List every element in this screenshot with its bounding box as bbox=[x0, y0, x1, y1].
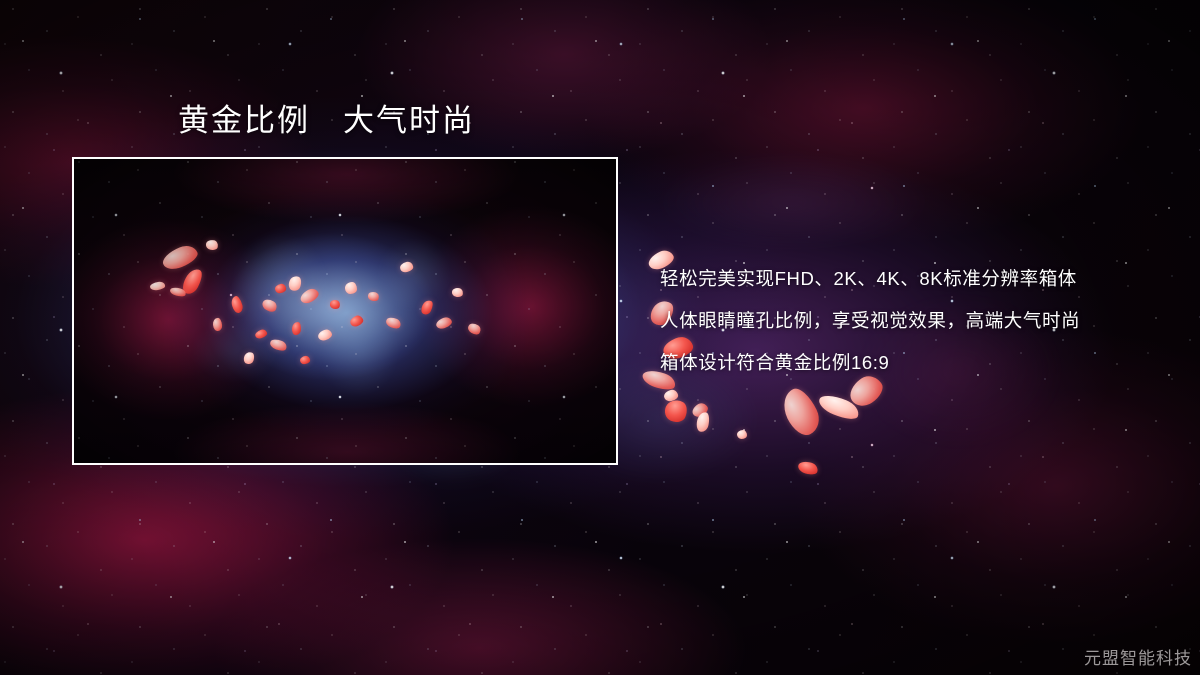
preview-frame-16-9 bbox=[72, 157, 618, 465]
rose-petal bbox=[816, 391, 862, 423]
body-line-1: 轻松完美实现FHD、2K、4K、8K标准分辨率箱体 bbox=[660, 258, 1160, 300]
page-title: 黄金比例 大气时尚 bbox=[178, 102, 475, 141]
rose-petal bbox=[797, 459, 820, 476]
rose-petal bbox=[737, 430, 747, 439]
rose-petal bbox=[777, 384, 825, 440]
body-line-2: 人体眼睛瞳孔比例，享受视觉效果，高端大气时尚 bbox=[660, 300, 1160, 342]
body-copy: 轻松完美实现FHD、2K、4K、8K标准分辨率箱体 人体眼睛瞳孔比例，享受视觉效… bbox=[660, 258, 1160, 384]
rose-petal bbox=[690, 401, 710, 419]
preview-image bbox=[74, 159, 616, 463]
watermark-brand: 元盟智能科技 bbox=[1084, 644, 1192, 669]
rose-petal bbox=[661, 396, 690, 425]
body-line-3: 箱体设计符合黄金比例16:9 bbox=[660, 342, 1160, 384]
presentation-slide: 黄金比例 大气时尚 轻松完美实现FHD、2K、4K、8K标准分辨率箱体 人体眼睛… bbox=[0, 0, 1200, 675]
rose-petal bbox=[663, 389, 679, 403]
rose-petal bbox=[695, 411, 711, 433]
